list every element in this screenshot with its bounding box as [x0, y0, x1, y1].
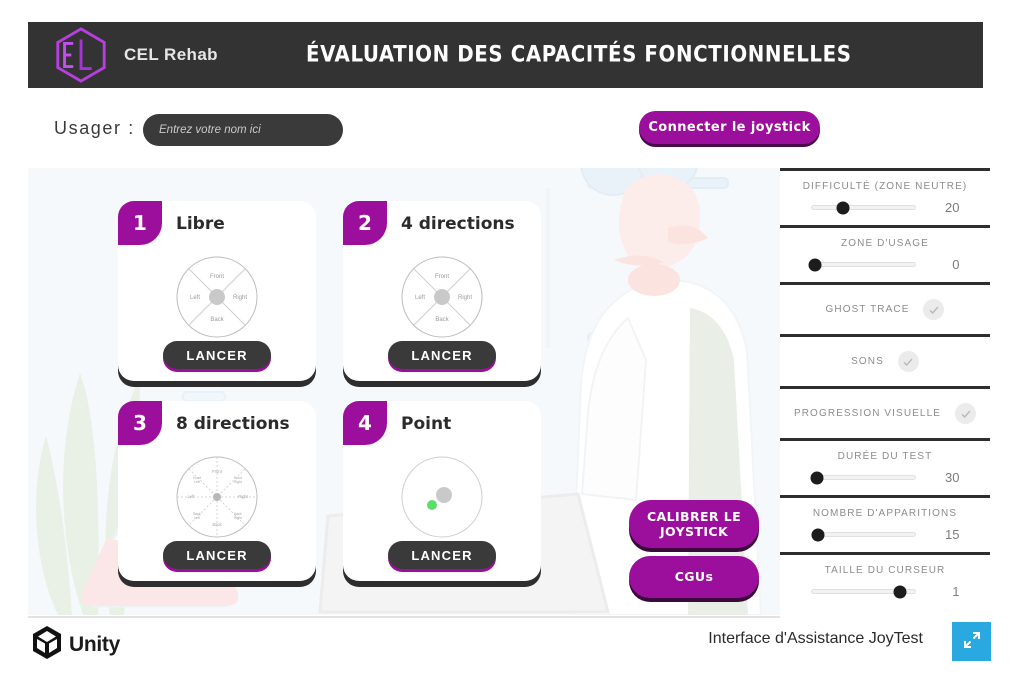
- svg-text:Back: Back: [212, 522, 222, 527]
- setting-label: TAILLE DU CURSEUR: [825, 565, 946, 576]
- slider-value: 15: [926, 527, 960, 542]
- user-label: Usager :: [54, 118, 135, 139]
- slider-value: 20: [926, 200, 960, 215]
- app-header: CEL Rehab ÉVALUATION DES CAPACITÉS FONCT…: [28, 22, 983, 88]
- card-number-badge: 2: [343, 201, 387, 245]
- slider-knob[interactable]: [894, 585, 907, 598]
- setting-slider[interactable]: [811, 589, 916, 594]
- svg-text:Left: Left: [415, 295, 425, 301]
- card-title: 4 directions: [401, 214, 515, 234]
- setting-label: DIFFICULTÉ (ZONE NEUTRE): [803, 181, 968, 192]
- launch-button[interactable]: LANCER: [163, 341, 271, 369]
- svg-text:Front: Front: [210, 274, 224, 280]
- settings-panel: DIFFICULTÉ (ZONE NEUTRE)20ZONE D'USAGE0G…: [780, 168, 990, 609]
- card-title: Libre: [176, 214, 225, 234]
- test-card[interactable]: 2 4 directions Front Back Left Right LAN…: [343, 201, 541, 381]
- setting-slider[interactable]: [811, 262, 916, 267]
- setting-checkbox[interactable]: [923, 299, 944, 320]
- setting-slider[interactable]: [811, 205, 916, 210]
- octant-wheel-icon: Front Back Left Right Front Left Front R…: [175, 455, 259, 539]
- unity-wordmark: Unity: [69, 633, 120, 657]
- point-target-icon: [400, 455, 484, 539]
- setting-slider[interactable]: [811, 475, 916, 480]
- slider-knob[interactable]: [837, 201, 850, 214]
- svg-text:Right: Right: [233, 295, 247, 301]
- setting-label: SONS: [851, 356, 884, 367]
- card-number-badge: 3: [118, 401, 162, 445]
- unity-logo-icon: [32, 626, 62, 664]
- connect-joystick-button[interactable]: Connecter le joystick: [639, 111, 820, 144]
- launch-button[interactable]: LANCER: [388, 541, 496, 569]
- quadrant-wheel-icon: Front Back Left Right: [400, 255, 484, 339]
- svg-text:Back: Back: [435, 317, 449, 323]
- setting-row: PROGRESSION VISUELLE: [780, 386, 990, 438]
- fullscreen-expand-button[interactable]: [952, 622, 991, 661]
- brand-name: CEL Rehab: [124, 45, 218, 65]
- setting-row: DURÉE DU TEST30: [780, 438, 990, 495]
- page-title: ÉVALUATION DES CAPACITÉS FONCTIONNELLES: [306, 43, 852, 68]
- svg-text:Right: Right: [234, 480, 242, 484]
- svg-text:Left: Left: [194, 516, 200, 520]
- slider-knob[interactable]: [811, 528, 824, 541]
- setting-row: ZONE D'USAGE0: [780, 225, 990, 282]
- setting-row: TAILLE DU CURSEUR1: [780, 552, 990, 609]
- card-title: 8 directions: [176, 414, 290, 434]
- test-card[interactable]: 1 Libre Front Back Left Right LANCER: [118, 201, 316, 381]
- card-number-badge: 4: [343, 401, 387, 445]
- slider-knob[interactable]: [810, 471, 823, 484]
- slider-value: 1: [926, 584, 960, 599]
- slider-knob[interactable]: [808, 258, 821, 271]
- user-name-input[interactable]: [143, 114, 343, 146]
- setting-checkbox[interactable]: [955, 403, 976, 424]
- setting-label: DURÉE DU TEST: [838, 451, 933, 462]
- slider-value: 30: [926, 470, 960, 485]
- setting-row: DIFFICULTÉ (ZONE NEUTRE)20: [780, 168, 990, 225]
- svg-text:Front: Front: [435, 274, 449, 280]
- svg-text:Left: Left: [190, 295, 200, 301]
- svg-text:Front: Front: [212, 469, 223, 474]
- test-card[interactable]: 4 Point LANCER: [343, 401, 541, 581]
- card-number-badge: 1: [118, 201, 162, 245]
- setting-label: PROGRESSION VISUELLE: [794, 408, 941, 419]
- fullscreen-expand-icon: [963, 631, 981, 652]
- cgu-button[interactable]: CGUs: [629, 556, 759, 598]
- footer-divider: [28, 616, 780, 618]
- slider-value: 0: [926, 257, 960, 272]
- svg-text:Left: Left: [194, 480, 200, 484]
- cel-hexagon-logo-icon: [50, 26, 112, 84]
- setting-label: ZONE D'USAGE: [841, 238, 929, 249]
- footer-title: Interface d'Assistance JoyTest: [708, 630, 923, 648]
- svg-text:Right: Right: [234, 516, 242, 520]
- svg-text:Left: Left: [188, 494, 196, 499]
- setting-row: GHOST TRACE: [780, 282, 990, 334]
- app-root: CEL Rehab ÉVALUATION DES CAPACITÉS FONCT…: [0, 0, 1011, 684]
- launch-button[interactable]: LANCER: [388, 341, 496, 369]
- svg-text:Right: Right: [238, 494, 249, 499]
- test-card[interactable]: 3 8 directions Front Back Left Right: [118, 401, 316, 581]
- quadrant-wheel-icon: Front Back Left Right: [175, 255, 259, 339]
- setting-row: SONS: [780, 334, 990, 386]
- calibrate-joystick-button[interactable]: CALIBRER LE JOYSTICK: [629, 500, 759, 548]
- unity-branding: Unity: [32, 626, 120, 664]
- launch-button[interactable]: LANCER: [163, 541, 271, 569]
- setting-label: GHOST TRACE: [826, 304, 910, 315]
- card-title: Point: [401, 414, 451, 434]
- svg-text:Back: Back: [210, 317, 224, 323]
- setting-checkbox[interactable]: [898, 351, 919, 372]
- setting-slider[interactable]: [811, 532, 916, 537]
- setting-label: NOMBRE D'APPARITIONS: [813, 508, 957, 519]
- svg-text:Right: Right: [458, 295, 472, 301]
- setting-row: NOMBRE D'APPARITIONS15: [780, 495, 990, 552]
